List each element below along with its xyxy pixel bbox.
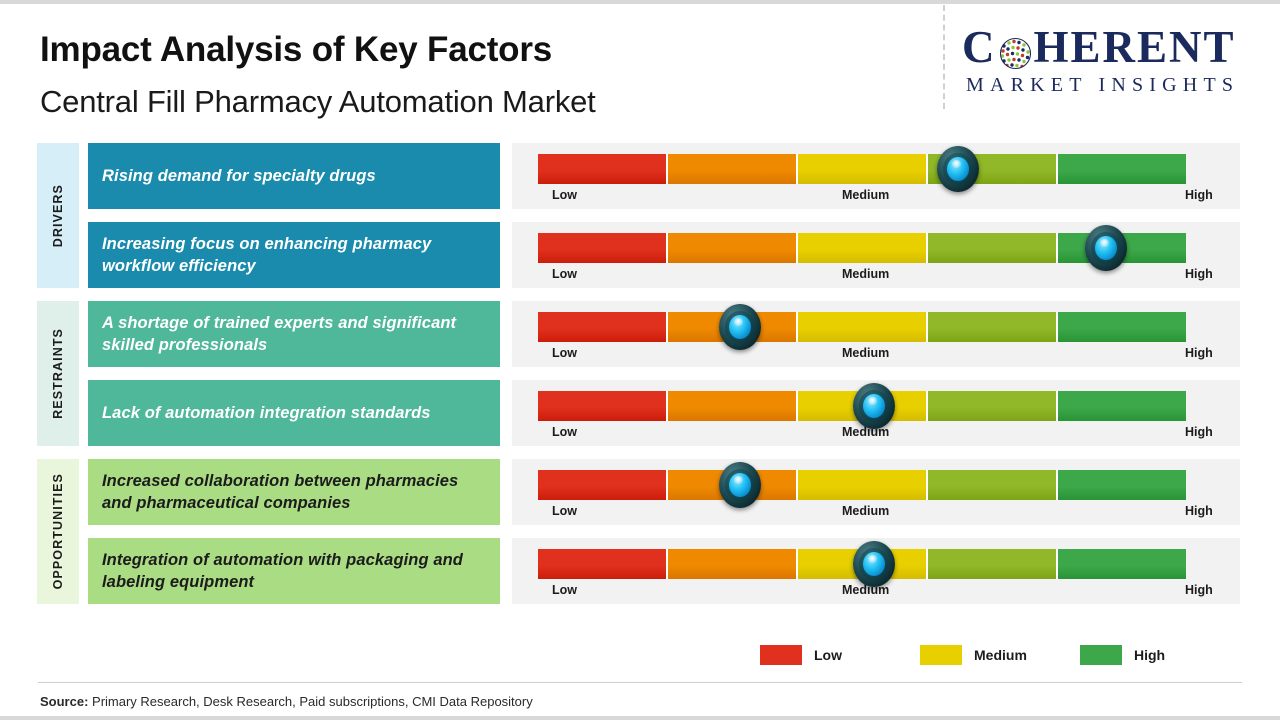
legend-label-high: High [1134, 647, 1165, 663]
gauge-segment [798, 391, 928, 421]
factor-card-label: Rising demand for specialty drugs [102, 165, 376, 187]
scale-label-low: Low [552, 504, 577, 518]
footer-divider [38, 682, 1242, 683]
gauge-segment [668, 233, 798, 263]
gauge-segment [538, 470, 668, 500]
scale-label-low: Low [552, 425, 577, 439]
gauge-segment [798, 312, 928, 342]
legend-swatch-high [1080, 645, 1122, 665]
header-dashed-divider [943, 5, 945, 109]
scale-label-high: High [1185, 504, 1213, 518]
gauge-segment [538, 391, 668, 421]
legend-label-low: Low [814, 647, 842, 663]
category-strip-drivers: DRIVERS [37, 143, 79, 288]
gauge-segment [668, 391, 798, 421]
gauge-segment [1058, 391, 1186, 421]
factor-card-label: A shortage of trained experts and signif… [102, 312, 486, 357]
gauge-segment [1058, 154, 1186, 184]
impact-gauge-row: Low Medium High [512, 380, 1240, 446]
gauge-segment [928, 391, 1058, 421]
gauge-segment [928, 312, 1058, 342]
factor-card-label: Increased collaboration between pharmaci… [102, 470, 486, 515]
impact-matrix: DRIVERS RESTRAINTS OPPORTUNITIES Rising … [0, 132, 1280, 622]
scale-label-medium: Medium [842, 583, 889, 597]
legend-label-medium: Medium [974, 647, 1027, 663]
legend-swatch-low [760, 645, 802, 665]
gauge-segment [668, 549, 798, 579]
scale-label-high: High [1185, 346, 1213, 360]
impact-gauge-bar [538, 391, 1186, 421]
factor-card-label: Increasing focus on enhancing pharmacy w… [102, 233, 486, 278]
factor-card: A shortage of trained experts and signif… [88, 301, 500, 367]
gauge-segment [1058, 549, 1186, 579]
category-label-drivers: DRIVERS [51, 184, 65, 247]
gauge-segment [798, 154, 928, 184]
factor-card: Increasing focus on enhancing pharmacy w… [88, 222, 500, 288]
gauge-segment [1058, 470, 1186, 500]
gauge-segment [928, 470, 1058, 500]
category-label-restraints: RESTRAINTS [51, 328, 65, 419]
factor-card: Increased collaboration between pharmaci… [88, 459, 500, 525]
factor-card: Rising demand for specialty drugs [88, 143, 500, 209]
impact-gauge-row: Low Medium High [512, 538, 1240, 604]
scale-label-high: High [1185, 267, 1213, 281]
gauge-segment [668, 312, 798, 342]
source-text: Primary Research, Desk Research, Paid su… [88, 694, 532, 709]
impact-gauge-row: Low Medium High [512, 301, 1240, 367]
logo-tagline: MARKET INSIGHTS [966, 74, 1239, 97]
gauge-segment [798, 233, 928, 263]
scale-label-high: High [1185, 583, 1213, 597]
page-header: Impact Analysis of Key Factors Central F… [0, 0, 1280, 132]
category-strip-opportunities: OPPORTUNITIES [37, 459, 79, 604]
scale-label-low: Low [552, 346, 577, 360]
scale-label-medium: Medium [842, 346, 889, 360]
factor-card: Lack of automation integration standards [88, 380, 500, 446]
gauge-segment [1058, 312, 1186, 342]
gauge-segment [538, 549, 668, 579]
impact-gauge-bar [538, 470, 1186, 500]
gauge-segment [538, 233, 668, 263]
gauge-segment [668, 470, 798, 500]
impact-gauge-row: Low Medium High [512, 222, 1240, 288]
legend-item: Medium [920, 645, 1027, 665]
scale-label-high: High [1185, 188, 1213, 202]
gauge-segment [668, 154, 798, 184]
gauge-segment [798, 470, 928, 500]
source-note: Source: Primary Research, Desk Research,… [40, 694, 533, 709]
bottom-border-rule [0, 716, 1280, 720]
impact-gauge-bar [538, 312, 1186, 342]
legend-swatch-medium [920, 645, 962, 665]
coherent-market-insights-logo: CHERENT MARKET INSIGHTS [962, 22, 1262, 104]
gauge-segment [538, 154, 668, 184]
impact-gauge-row: Low Medium High [512, 459, 1240, 525]
scale-label-medium: Medium [842, 425, 889, 439]
logo-letters-herent: HERENT [1034, 22, 1236, 72]
gauge-segment [798, 549, 928, 579]
legend-item: High [1080, 645, 1165, 665]
legend-item: Low [760, 645, 842, 665]
impact-gauge-bar [538, 154, 1186, 184]
source-label: Source: [40, 694, 88, 709]
logo-letter-c: C [962, 22, 997, 72]
gauge-segment [928, 233, 1058, 263]
factor-card-label: Lack of automation integration standards [102, 402, 431, 424]
gauge-segment [1058, 233, 1186, 263]
scale-label-low: Low [552, 188, 577, 202]
gauge-segment [538, 312, 668, 342]
scale-label-medium: Medium [842, 188, 889, 202]
impact-gauge-row: Low Medium High [512, 143, 1240, 209]
scale-label-low: Low [552, 583, 577, 597]
page-title: Impact Analysis of Key Factors [40, 30, 552, 70]
scale-label-medium: Medium [842, 504, 889, 518]
page-subtitle: Central Fill Pharmacy Automation Market [40, 84, 596, 120]
impact-gauge-bar [538, 233, 1186, 263]
category-strip-restraints: RESTRAINTS [37, 301, 79, 446]
gauge-segment [928, 549, 1058, 579]
scale-label-high: High [1185, 425, 1213, 439]
gauge-segment [928, 154, 1058, 184]
dotted-globe-icon [998, 31, 1033, 66]
category-label-opportunities: OPPORTUNITIES [51, 473, 65, 589]
factor-card: Integration of automation with packaging… [88, 538, 500, 604]
legend: Low Medium High [760, 645, 1210, 669]
impact-gauge-bar [538, 549, 1186, 579]
scale-label-medium: Medium [842, 267, 889, 281]
factor-card-label: Integration of automation with packaging… [102, 549, 486, 594]
scale-label-low: Low [552, 267, 577, 281]
